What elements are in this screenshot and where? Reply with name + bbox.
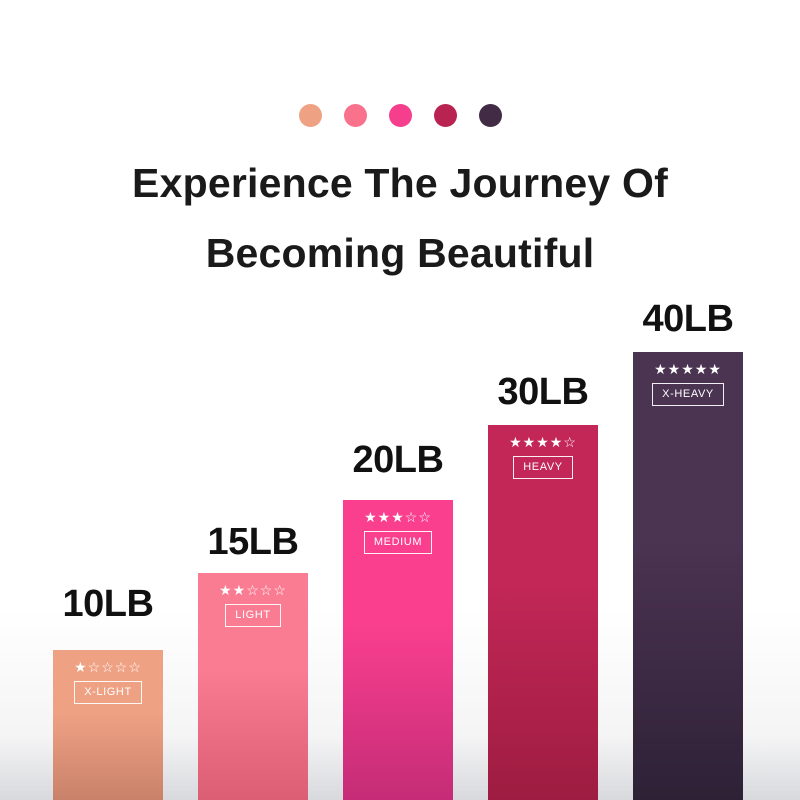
bar-badge: ★☆☆☆☆X-LIGHT <box>53 660 163 704</box>
tier-label: HEAVY <box>513 456 572 479</box>
dot-medium <box>389 104 412 127</box>
bar-x-heavy[interactable]: ★★★★★X-HEAVY <box>633 352 743 800</box>
weight-label-40lb: 40LB <box>613 300 763 338</box>
weight-label-10lb: 10LB <box>33 585 183 623</box>
page-title-line-2: Becoming Beautiful <box>0 218 800 288</box>
dot-heavy <box>434 104 457 127</box>
star-rating-icon: ★★☆☆☆ <box>219 583 287 597</box>
tier-label: X-LIGHT <box>74 681 142 704</box>
bar-badge: ★★★★☆HEAVY <box>488 435 598 479</box>
weight-label-15lb: 15LB <box>178 523 328 561</box>
weight-label-20lb: 20LB <box>323 441 473 479</box>
bar-badge: ★★★☆☆MEDIUM <box>343 510 453 554</box>
dot-x-light <box>299 104 322 127</box>
promo-banner: Experience The Journey Of Becoming Beaut… <box>0 0 800 800</box>
bar-fill <box>488 425 598 800</box>
star-rating-icon: ★☆☆☆☆ <box>74 660 142 674</box>
dot-light <box>344 104 367 127</box>
page-title: Experience The Journey Of Becoming Beaut… <box>0 148 800 288</box>
bar-fill <box>633 352 743 800</box>
star-rating-icon: ★★★★☆ <box>509 435 577 449</box>
tier-label: LIGHT <box>225 604 280 627</box>
color-swatch-row <box>0 104 800 127</box>
bar-light[interactable]: ★★☆☆☆LIGHT <box>198 573 308 800</box>
star-rating-icon: ★★★☆☆ <box>364 510 432 524</box>
star-rating-icon: ★★★★★ <box>654 362 722 376</box>
bar-badge: ★★★★★X-HEAVY <box>633 362 743 406</box>
weight-label-30lb: 30LB <box>468 373 618 411</box>
bar-badge: ★★☆☆☆LIGHT <box>198 583 308 627</box>
tier-label: MEDIUM <box>364 531 432 554</box>
bar-medium[interactable]: ★★★☆☆MEDIUM <box>343 500 453 800</box>
tier-label: X-HEAVY <box>652 383 724 406</box>
bar-heavy[interactable]: ★★★★☆HEAVY <box>488 425 598 800</box>
page-title-line-1: Experience The Journey Of <box>0 148 800 218</box>
bar-x-light[interactable]: ★☆☆☆☆X-LIGHT <box>53 650 163 800</box>
dot-x-heavy <box>479 104 502 127</box>
